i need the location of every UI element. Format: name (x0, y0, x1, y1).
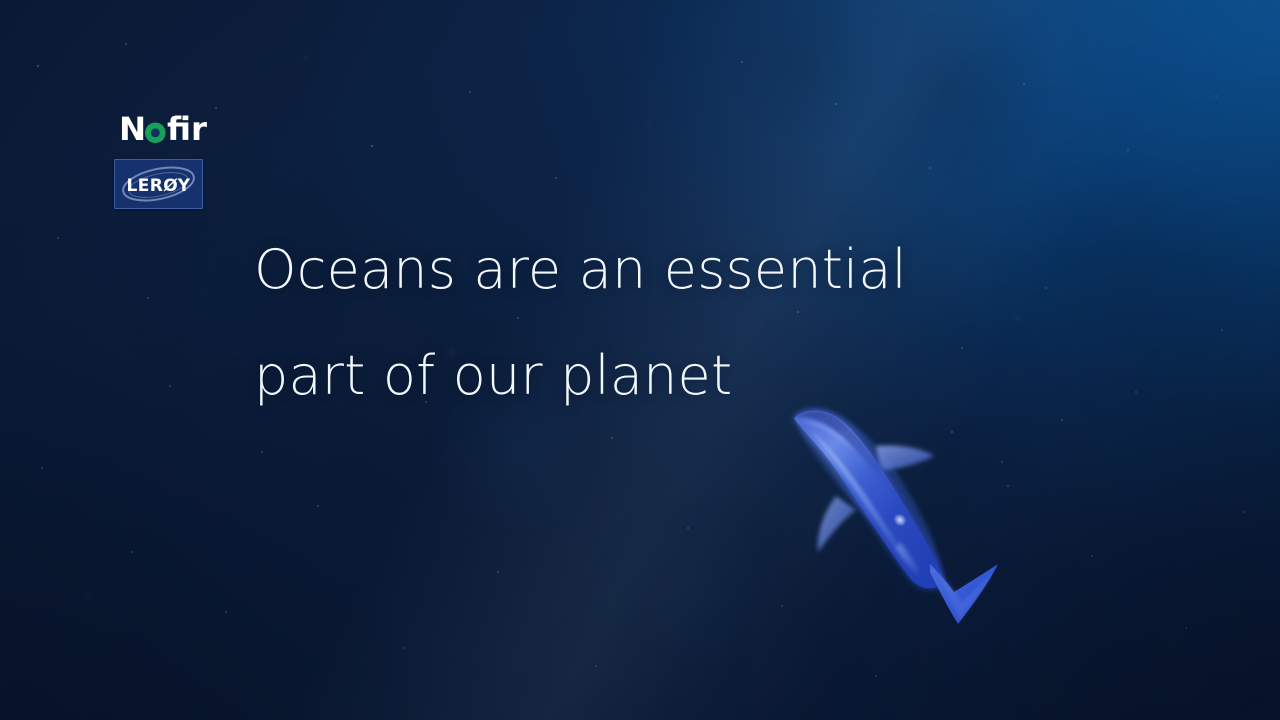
brand-logo-stack: N fir LERØY (114, 111, 234, 209)
fish-pectoral-fin (818, 496, 856, 552)
nofir-logo-accent-o (145, 123, 166, 144)
nofir-logo-letters-fir: fir (167, 111, 207, 148)
leroy-logo-wordmark: LERØY (127, 176, 191, 196)
headline: Oceans are an essential part of our plan… (254, 192, 907, 454)
video-frame: N fir LERØY Oceans are an essential part… (0, 0, 1280, 720)
nofir-logo: N fir (119, 111, 231, 149)
leroy-logo: LERØY (114, 159, 203, 209)
headline-line-2: part of our planet (254, 350, 907, 402)
nofir-logo-letter-n: N (119, 111, 146, 148)
headline-line-1: Oceans are an essential (254, 244, 907, 296)
